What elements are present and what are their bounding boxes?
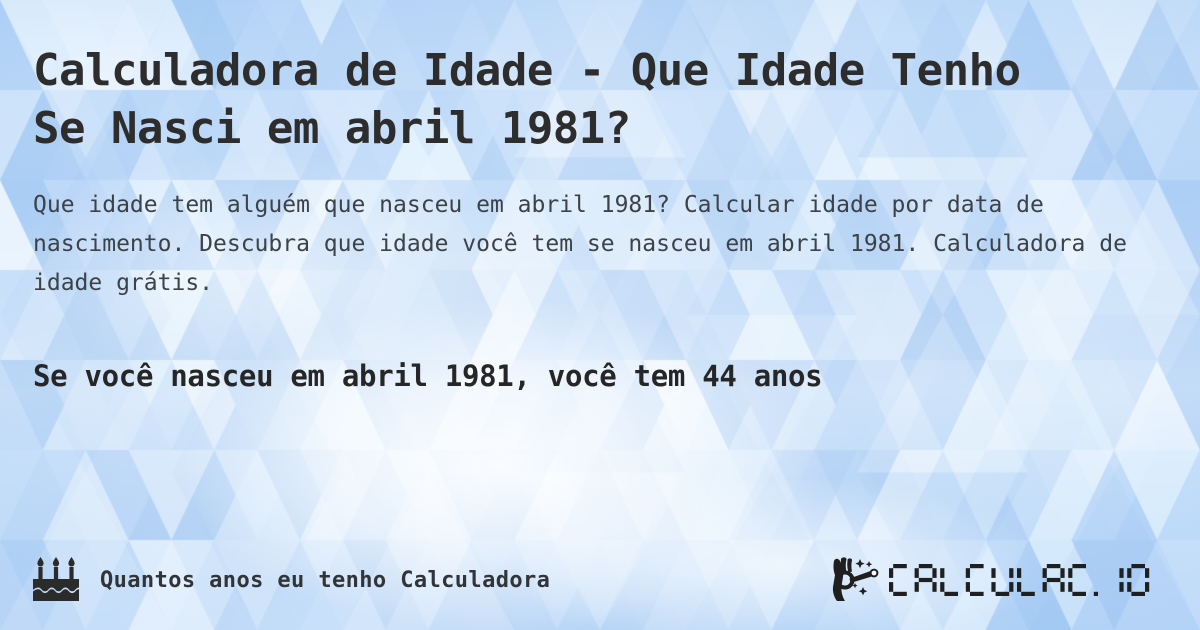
footer-brand[interactable]: Quantos anos eu tenho Calculadora	[30, 557, 550, 603]
page-container: Calculadora de Idade - Que Idade Tenho S…	[0, 0, 1200, 630]
birthday-cake-icon	[30, 557, 82, 603]
age-answer-text: Se você nasceu em abril 1981, você tem 4…	[33, 356, 1168, 396]
site-logo[interactable]	[829, 557, 1172, 603]
page-description: Que idade tem alguém que nasceu em abril…	[33, 186, 1143, 303]
footer-label: Quantos anos eu tenho Calculadora	[100, 568, 550, 593]
magic-wand-hand-icon	[829, 557, 885, 603]
logo-wordmark	[887, 557, 1172, 603]
footer: Quantos anos eu tenho Calculadora	[0, 545, 1200, 615]
page-title: Calculadora de Idade - Que Idade Tenho S…	[33, 42, 1063, 158]
